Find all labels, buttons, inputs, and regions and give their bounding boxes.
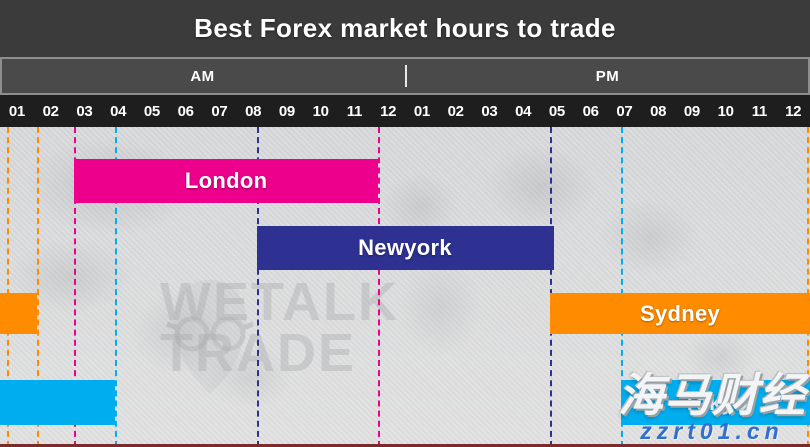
- session-bar-newyork[interactable]: Newyork: [257, 226, 554, 270]
- session-bar-london[interactable]: London: [74, 159, 378, 203]
- hour-label-13: 02: [439, 95, 473, 127]
- forex-market-hours-infographic: Best Forex market hours to trade AM PM 0…: [0, 0, 810, 447]
- hour-label-4: 05: [135, 95, 169, 127]
- page-title: Best Forex market hours to trade: [194, 13, 616, 44]
- session-label-london: London: [185, 168, 267, 194]
- hour-axis: 0102030405060708091011120102030405060708…: [0, 95, 810, 127]
- guide-line-newyork-6: [550, 127, 552, 447]
- brand-watermark: WETALK TRADE: [160, 277, 399, 380]
- hour-label-16: 05: [540, 95, 574, 127]
- meridiem-pm: PM: [405, 59, 810, 93]
- title-bar: Best Forex market hours to trade: [0, 0, 810, 57]
- hour-label-21: 10: [709, 95, 743, 127]
- session-bar-sydney-0[interactable]: [0, 293, 37, 334]
- hour-label-20: 09: [675, 95, 709, 127]
- hour-label-11: 12: [371, 95, 405, 127]
- hour-label-0: 01: [0, 95, 34, 127]
- hour-label-1: 02: [34, 95, 68, 127]
- session-chart: WETALK TRADE LondonNewyorkSydneyTokyo 海马…: [0, 127, 810, 447]
- hour-label-6: 07: [203, 95, 237, 127]
- hour-label-17: 06: [574, 95, 608, 127]
- hour-label-23: 12: [776, 95, 810, 127]
- hour-label-15: 04: [506, 95, 540, 127]
- session-bar-tokyo-0[interactable]: [0, 380, 115, 425]
- guide-line-london-5: [378, 127, 380, 447]
- wetalk-face-logo-icon: [150, 262, 270, 412]
- session-bar-tokyo-1[interactable]: Tokyo: [621, 380, 810, 425]
- meridiem-am: AM: [0, 59, 405, 93]
- hour-label-10: 11: [338, 95, 372, 127]
- session-label-tokyo: Tokyo: [683, 390, 748, 416]
- hour-label-9: 10: [304, 95, 338, 127]
- hour-label-14: 03: [473, 95, 507, 127]
- session-label-newyork: Newyork: [358, 235, 452, 261]
- hour-label-7: 08: [236, 95, 270, 127]
- hour-label-5: 06: [169, 95, 203, 127]
- hour-label-2: 03: [68, 95, 102, 127]
- hour-label-8: 09: [270, 95, 304, 127]
- hour-label-3: 04: [101, 95, 135, 127]
- session-bar-sydney-1[interactable]: Sydney: [550, 293, 810, 334]
- hour-label-22: 11: [743, 95, 777, 127]
- hour-label-12: 01: [405, 95, 439, 127]
- session-label-sydney: Sydney: [640, 301, 720, 327]
- meridiem-header: AM PM: [0, 57, 810, 95]
- hour-label-19: 08: [641, 95, 675, 127]
- hour-label-18: 07: [608, 95, 642, 127]
